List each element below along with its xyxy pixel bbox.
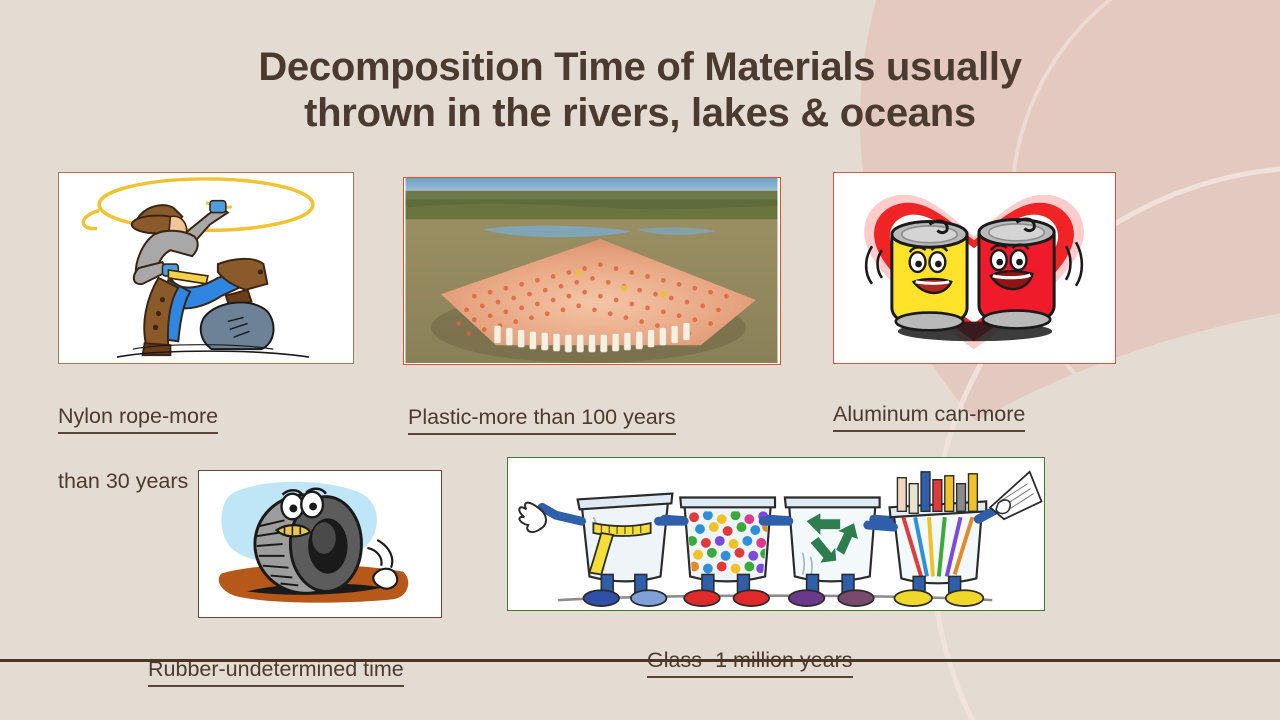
caption-glass: Glass- 1 million years	[647, 614, 1047, 678]
caption-nylon-line-2: than 30 years	[58, 466, 188, 497]
caption-plastic-line-1: Plastic-more than 100 years	[408, 402, 676, 435]
slide: Decomposition Time of Materials usually …	[0, 0, 1280, 720]
glass-jars-with-arms-legs-icon	[508, 458, 1044, 610]
caption-nylon-line-1: Nylon rope-more	[58, 401, 218, 434]
item-card-rubber: Rubber-undetermined time	[198, 470, 444, 687]
caption-rubber: Rubber-undetermined time	[148, 623, 444, 687]
plastic-bottles-on-beach-photo-icon	[404, 178, 779, 363]
image-frame-plastic	[403, 177, 781, 365]
slide-title-line-2: thrown in the rivers, lakes & oceans	[95, 90, 1185, 136]
caption-aluminum-line-1: Aluminum can-more	[833, 399, 1025, 432]
rolling-tire-cartoon-icon	[199, 471, 441, 617]
slide-title-line-1: Decomposition Time of Materials usually	[95, 44, 1185, 90]
caption-plastic: Plastic-more than 100 years	[408, 371, 783, 435]
item-card-nylon: Nylon rope-more than 30 years	[58, 172, 358, 497]
item-card-glass: Glass- 1 million years	[507, 457, 1047, 678]
cowboy-with-lasso-icon	[59, 173, 353, 363]
image-frame-glass	[507, 457, 1045, 611]
slide-title: Decomposition Time of Materials usually …	[95, 44, 1185, 137]
image-frame-aluminum	[833, 172, 1116, 364]
two-smiling-cans-heart-icon	[834, 173, 1115, 363]
image-frame-nylon	[58, 172, 354, 364]
item-card-aluminum: Aluminum can-more than 100 years	[833, 172, 1118, 497]
image-frame-rubber	[198, 470, 442, 618]
bottom-divider-rule	[0, 659, 1280, 662]
item-card-plastic: Plastic-more than 100 years	[403, 177, 783, 435]
